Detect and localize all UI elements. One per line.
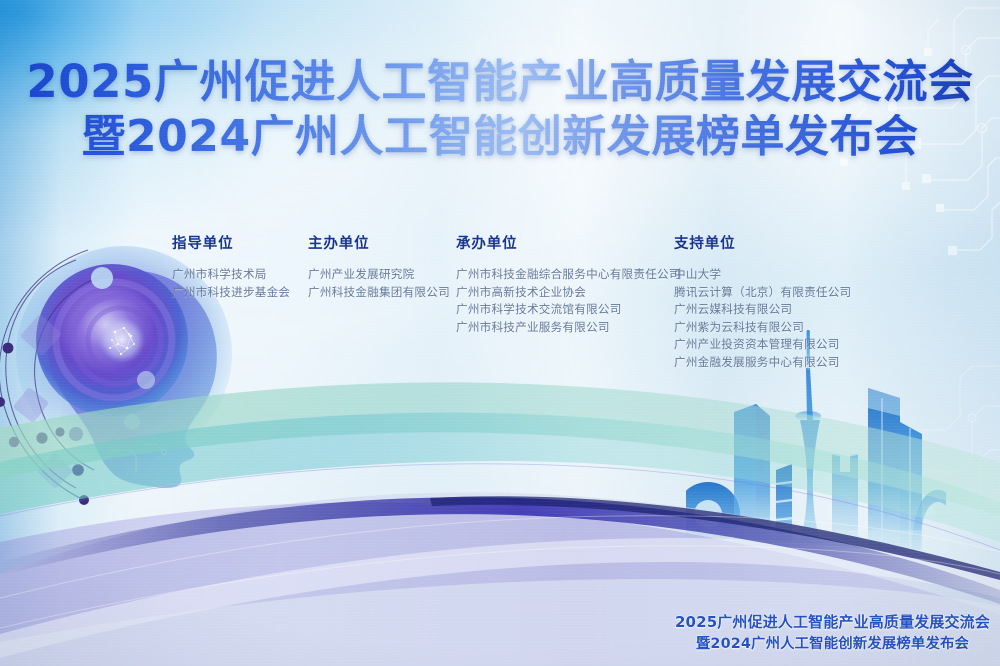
org-item: 中山大学 bbox=[674, 266, 851, 284]
corner-watermark: 2025广州促进人工智能产业高质量发展交流会 暨2024广州人工智能创新发展榜单… bbox=[675, 612, 990, 654]
org-heading: 承办单位 bbox=[456, 232, 681, 253]
org-item: 广州金融发展服务中心有限公司 bbox=[674, 354, 851, 372]
org-column-supporter: 支持单位 中山大学 腾讯云计算（北京）有限责任公司 广州云媒科技有限公司 广州紫… bbox=[674, 232, 851, 372]
event-backdrop-screen: 2025广州促进人工智能产业高质量发展交流会 暨2024广州人工智能创新发展榜单… bbox=[0, 0, 1000, 666]
org-item: 广州产业发展研究院 bbox=[308, 266, 450, 284]
org-item: 广州云媒科技有限公司 bbox=[674, 301, 851, 319]
event-title-line-1: 2025广州促进人工智能产业高质量发展交流会 bbox=[0, 58, 1000, 106]
org-item: 广州市科学技术交流馆有限公司 bbox=[456, 301, 681, 319]
org-heading: 支持单位 bbox=[674, 232, 851, 253]
org-item: 广州市科技金融综合服务中心有限责任公司 bbox=[456, 266, 681, 284]
event-title-line-2: 暨2024广州人工智能创新发展榜单发布会 bbox=[0, 114, 1000, 161]
org-heading: 主办单位 bbox=[308, 232, 450, 253]
org-item: 广州科技金融集团有限公司 bbox=[308, 284, 450, 302]
org-column-organizer: 承办单位 广州市科技金融综合服务中心有限责任公司 广州市高新技术企业协会 广州市… bbox=[456, 232, 681, 336]
watermark-line-1: 2025广州促进人工智能产业高质量发展交流会 bbox=[675, 612, 990, 633]
watermark-line-2: 暨2024广州人工智能创新发展榜单发布会 bbox=[675, 634, 990, 654]
org-column-guidance: 指导单位 广州市科学技术局 广州市科技进步基金会 bbox=[172, 232, 290, 301]
org-heading: 指导单位 bbox=[172, 232, 290, 253]
org-column-host: 主办单位 广州产业发展研究院 广州科技金融集团有限公司 bbox=[308, 232, 450, 301]
organization-columns: 指导单位 广州市科学技术局 广州市科技进步基金会 主办单位 广州产业发展研究院 … bbox=[0, 232, 1000, 382]
org-item: 广州产业投资资本管理有限公司 bbox=[674, 336, 851, 354]
org-item: 广州市科技进步基金会 bbox=[172, 284, 290, 302]
org-item: 广州市科学技术局 bbox=[172, 266, 290, 284]
org-item: 广州市科技产业服务有限公司 bbox=[456, 319, 681, 337]
event-title: 2025广州促进人工智能产业高质量发展交流会 暨2024广州人工智能创新发展榜单… bbox=[0, 58, 1000, 160]
org-item: 广州紫为云科技有限公司 bbox=[674, 319, 851, 337]
org-item: 广州市高新技术企业协会 bbox=[456, 284, 681, 302]
org-item: 腾讯云计算（北京）有限责任公司 bbox=[674, 284, 851, 302]
